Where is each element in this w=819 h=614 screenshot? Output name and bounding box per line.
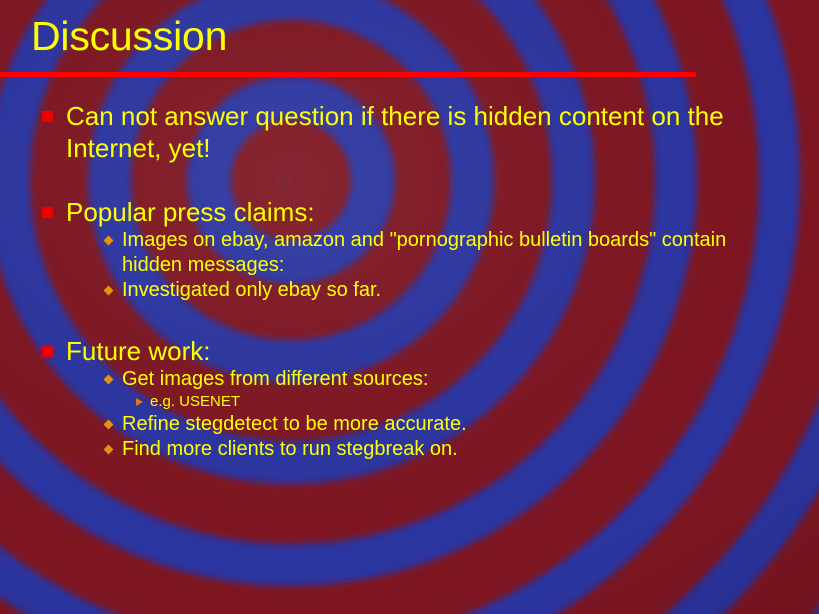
spacer <box>0 164 819 186</box>
slide-body: Can not answer question if there is hidd… <box>0 90 819 462</box>
diamond-bullet-icon <box>104 375 114 385</box>
title-divider-rule <box>0 72 696 77</box>
square-bullet-icon <box>42 207 53 218</box>
bullet-text: Popular press claims: <box>66 196 315 228</box>
bullet-text: Refine stegdetect to be more accurate. <box>122 412 467 437</box>
bullet-level3: e.g. USENET <box>0 392 819 412</box>
diamond-bullet-icon <box>104 420 114 430</box>
bullet-text: e.g. USENET <box>150 392 240 412</box>
bullet-level1: Popular press claims: <box>0 196 819 228</box>
presentation-slide: Discussion Can not answer question if th… <box>0 0 819 614</box>
triangle-bullet-icon <box>136 398 143 406</box>
bullet-text: Future work: <box>66 335 211 367</box>
bullet-level2: Images on ebay, amazon and "pornographic… <box>0 228 819 278</box>
bullet-level2: Get images from different sources: <box>0 367 819 392</box>
square-bullet-icon <box>42 111 53 122</box>
bullet-text: Investigated only ebay so far. <box>122 278 381 303</box>
diamond-bullet-icon <box>104 286 114 296</box>
bullet-text: Find more clients to run stegbreak on. <box>122 437 458 462</box>
diamond-bullet-icon <box>104 236 114 246</box>
square-bullet-icon <box>42 346 53 357</box>
slide-content: Discussion Can not answer question if th… <box>0 0 819 614</box>
bullet-text: Get images from different sources: <box>122 367 428 392</box>
bullet-level2: Refine stegdetect to be more accurate. <box>0 412 819 437</box>
bullet-level1: Can not answer question if there is hidd… <box>0 100 819 164</box>
diamond-bullet-icon <box>104 445 114 455</box>
page-title: Discussion <box>31 15 227 58</box>
bullet-text: Can not answer question if there is hidd… <box>66 100 756 164</box>
bullet-level2: Investigated only ebay so far. <box>0 278 819 303</box>
spacer <box>0 303 819 325</box>
bullet-level1: Future work: <box>0 335 819 367</box>
bullet-level2: Find more clients to run stegbreak on. <box>0 437 819 462</box>
bullet-text: Images on ebay, amazon and "pornographic… <box>122 228 782 278</box>
